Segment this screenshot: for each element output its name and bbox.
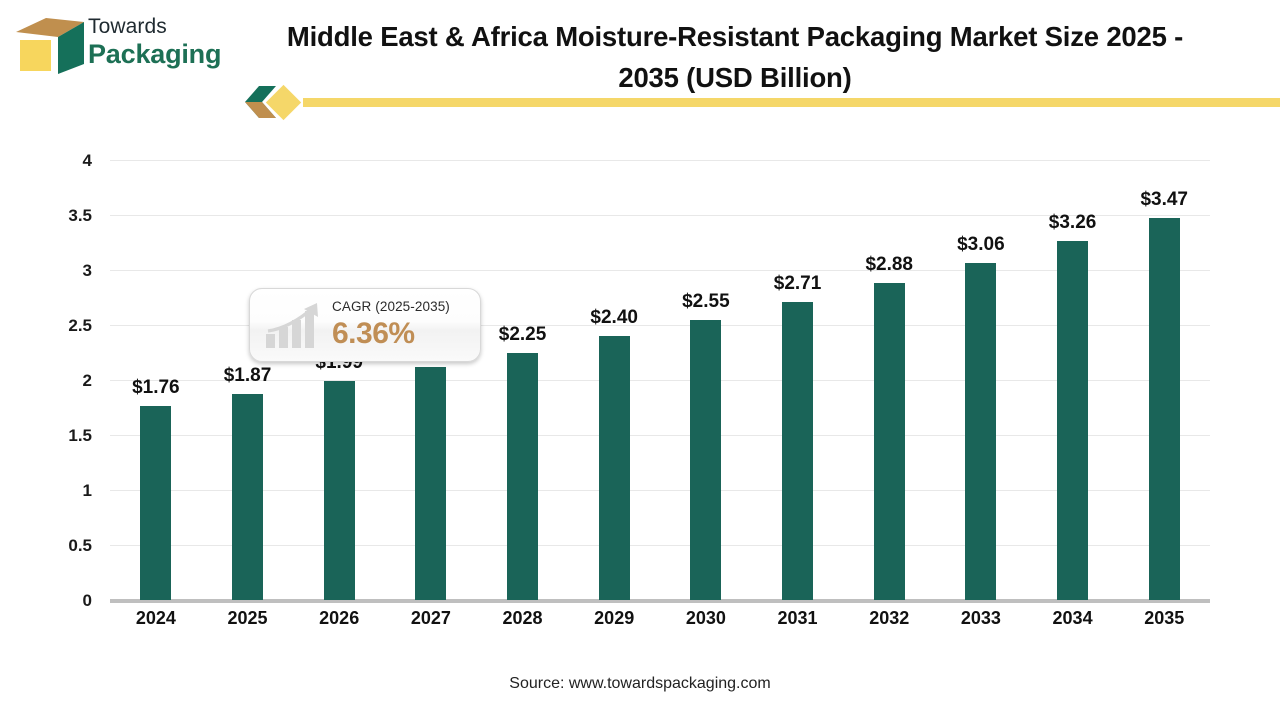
cagr-badge: CAGR (2025-2035) 6.36%: [249, 288, 481, 362]
bar-value-label: $2.40: [568, 307, 660, 329]
cagr-value: 6.36%: [332, 316, 474, 352]
growth-bar-chart-arrow-icon: [264, 301, 330, 351]
y-axis-tick: 1.5: [32, 426, 92, 446]
bar-value-label: $1.76: [110, 377, 202, 399]
source-note: Source: www.towardspackaging.com: [0, 675, 1280, 693]
bar-slot: $3.26: [1027, 160, 1119, 600]
bar-slot: $2.71: [752, 160, 844, 600]
y-axis-tick: 0.5: [32, 536, 92, 556]
y-axis-tick: 0: [32, 591, 92, 611]
bar: [507, 353, 538, 601]
y-axis-tick: 4: [32, 151, 92, 171]
x-axis: 2024202520262027202820292030203120322033…: [110, 608, 1210, 629]
chart-page: Towards Packaging Middle East & Africa M…: [0, 0, 1280, 720]
y-axis-tick: 2.5: [32, 316, 92, 336]
brand-wordmark: Towards Packaging: [88, 14, 248, 70]
bar-value-label: $2.25: [477, 324, 569, 346]
bar: [965, 263, 996, 600]
bar-slot: $2.40: [568, 160, 660, 600]
bar-slot: $2.55: [660, 160, 752, 600]
x-axis-tick: 2029: [568, 608, 660, 629]
x-axis-tick: 2032: [843, 608, 935, 629]
y-axis-tick: 3.5: [32, 206, 92, 226]
bar-value-label: $3.26: [1027, 212, 1119, 234]
bar: [599, 336, 630, 600]
y-axis-tick: 1: [32, 481, 92, 501]
x-axis-tick: 2030: [660, 608, 752, 629]
package-box-icon: [12, 16, 88, 76]
cagr-text-group: CAGR (2025-2035) 6.36%: [332, 298, 474, 352]
cagr-caption: CAGR (2025-2035): [332, 298, 474, 316]
x-axis-tick: 2025: [202, 608, 294, 629]
bar: [690, 320, 721, 601]
header-divider: [243, 84, 1280, 120]
bar-value-label: $2.55: [660, 291, 752, 313]
bar: [324, 381, 355, 600]
bar: [415, 367, 446, 600]
bar-slot: $2.88: [843, 160, 935, 600]
bar-value-label: $3.47: [1118, 189, 1210, 211]
bar: [1149, 218, 1180, 600]
bar-slot: $1.76: [110, 160, 202, 600]
bar: [1057, 241, 1088, 600]
bar-slot: $2.12: [385, 160, 477, 600]
chart-canvas: 4 3.5 3 2.5 2 1.5 1 0.5 0 $1.76$1.87$1.9…: [0, 120, 1280, 720]
bar-value-label: $2.71: [752, 273, 844, 295]
bar-slot: $3.47: [1118, 160, 1210, 600]
bar: [782, 302, 813, 600]
bar-slot: $2.25: [477, 160, 569, 600]
y-axis-tick: 3: [32, 261, 92, 281]
brand-wordmark-line2: Packaging: [88, 39, 248, 70]
x-axis-tick: 2033: [935, 608, 1027, 629]
brand-wordmark-line1: Towards: [88, 14, 248, 39]
bar-value-label: $3.06: [935, 234, 1027, 256]
x-axis-tick: 2035: [1118, 608, 1210, 629]
bar: [140, 406, 171, 600]
bar-slot: $3.06: [935, 160, 1027, 600]
x-axis-tick: 2031: [752, 608, 844, 629]
x-axis-tick: 2027: [385, 608, 477, 629]
bar: [232, 394, 263, 600]
divider-line: [303, 98, 1280, 107]
bar-slot: $1.99: [293, 160, 385, 600]
bar-value-label: $2.88: [843, 254, 935, 276]
bar-slot: $1.87: [202, 160, 294, 600]
brand-logo: Towards Packaging: [12, 14, 242, 76]
x-axis-tick: 2034: [1027, 608, 1119, 629]
y-axis-tick: 2: [32, 371, 92, 391]
x-axis-tick: 2024: [110, 608, 202, 629]
x-axis-tick: 2026: [293, 608, 385, 629]
bar: [874, 283, 905, 600]
bar-series: $1.76$1.87$1.99$2.12$2.25$2.40$2.55$2.71…: [110, 160, 1210, 600]
bar-value-label: $1.87: [202, 365, 294, 387]
x-axis-tick: 2028: [477, 608, 569, 629]
